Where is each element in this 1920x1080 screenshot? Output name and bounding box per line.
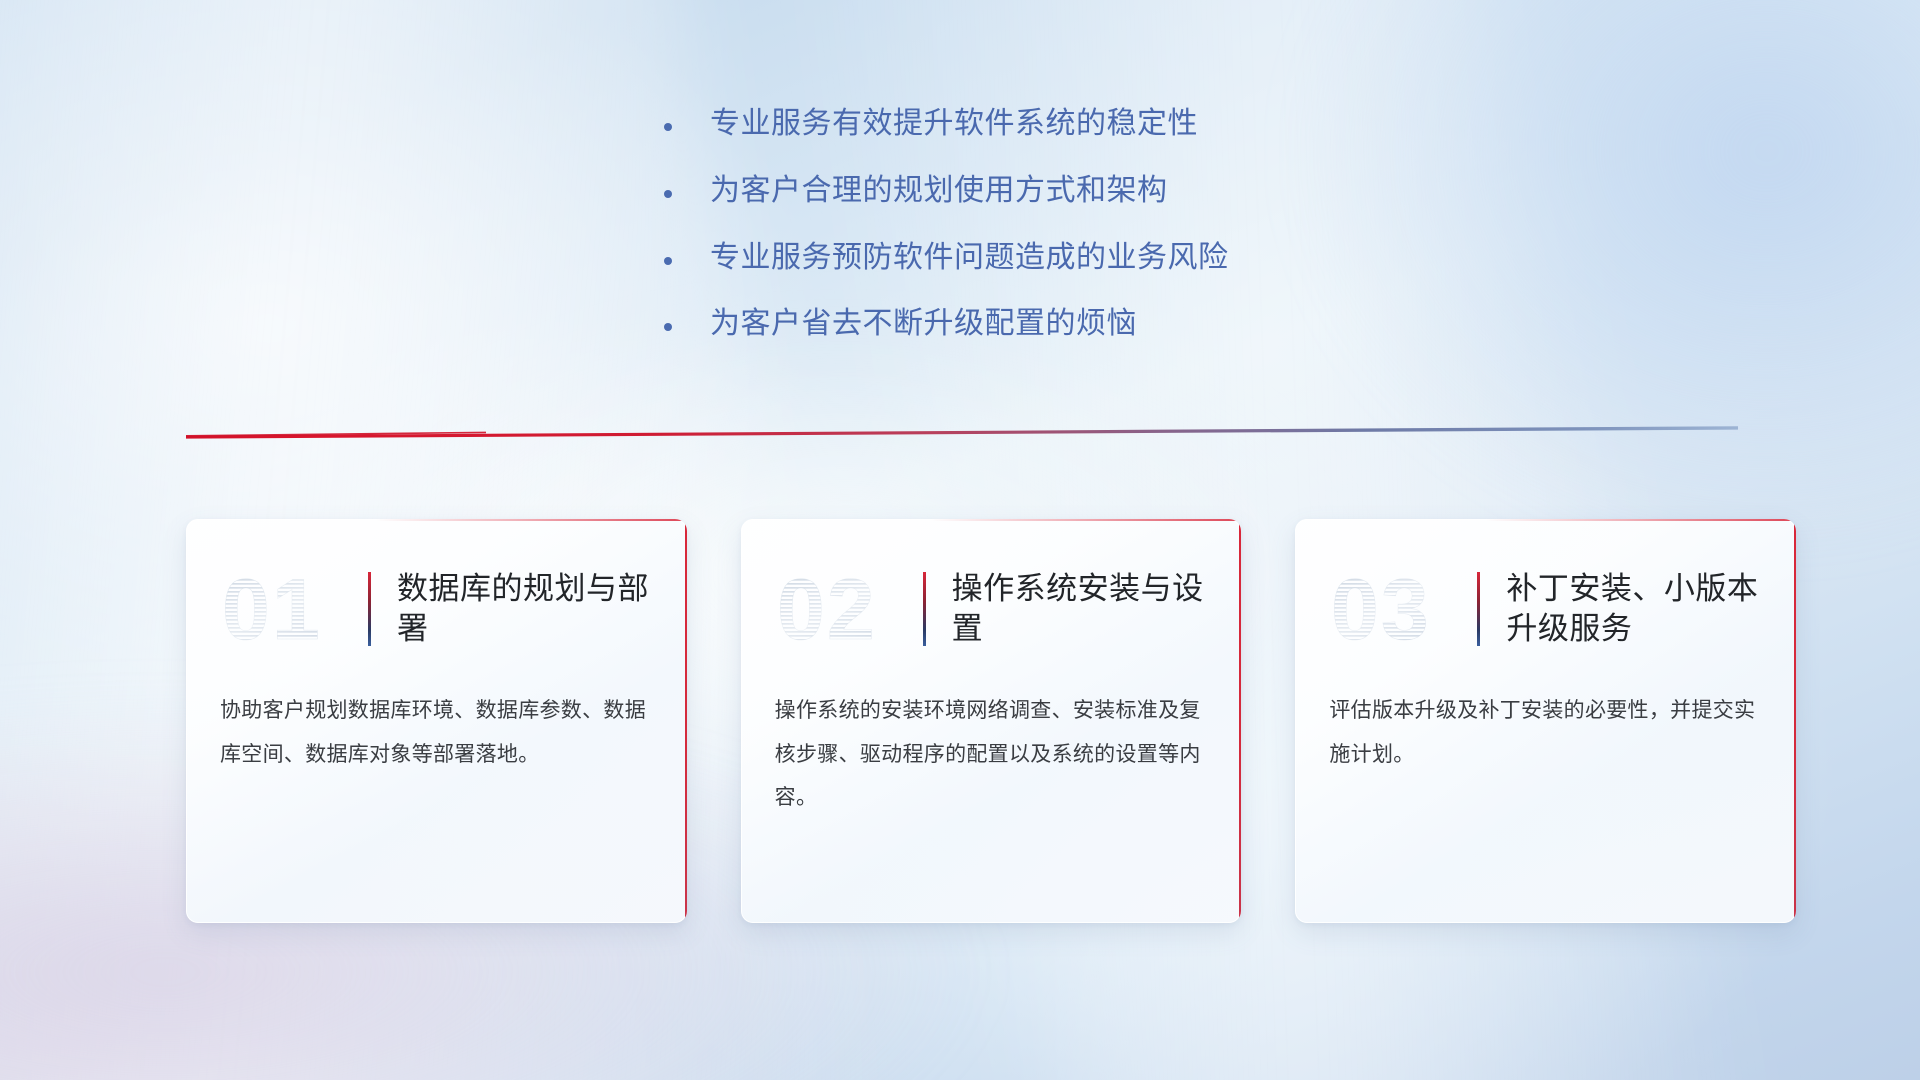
benefits-bullet-list: 专业服务有效提升软件系统的稳定性 为客户合理的规划使用方式和架构 专业服务预防软… [664, 104, 1484, 371]
card-body-text: 操作系统的安装环境网络调查、安装标准及复核步骤、驱动程序的配置以及系统的设置等内… [741, 667, 1242, 820]
service-card-01[interactable]: 01 01 数据库的规划与部署 协助客户规划数据库环境、数据库参数、数据库空间、… [186, 519, 687, 923]
bullet-text: 为客户省去不断升级配置的烦恼 [710, 304, 1137, 345]
card-title-rule [923, 572, 926, 646]
bullet-dot-icon [664, 257, 672, 265]
slide-root: 专业服务有效提升软件系统的稳定性 为客户合理的规划使用方式和架构 专业服务预防软… [0, 0, 1920, 1080]
bullet-dot-icon [664, 323, 672, 331]
card-title: 操作系统安装与设置 [952, 569, 1212, 650]
bullet-dot-icon [664, 123, 672, 131]
section-divider [186, 424, 1738, 444]
bullet-text: 专业服务有效提升软件系统的稳定性 [710, 104, 1198, 145]
card-header: 03 03 补丁安装、小版本升级服务 [1295, 519, 1796, 667]
card-body-text: 协助客户规划数据库环境、数据库参数、数据库空间、数据库对象等部署落地。 [186, 667, 687, 776]
service-card-list: 01 01 数据库的规划与部署 协助客户规划数据库环境、数据库参数、数据库空间、… [186, 519, 1796, 923]
ghost-number-03-icon: 03 03 [1329, 563, 1461, 655]
svg-text:01: 01 [222, 563, 322, 655]
svg-text:02: 02 [777, 563, 877, 655]
bullet-text: 为客户合理的规划使用方式和架构 [710, 171, 1168, 212]
card-title-rule [1477, 572, 1480, 646]
card-header: 01 01 数据库的规划与部署 [186, 519, 687, 667]
bullet-dot-icon [664, 190, 672, 198]
ghost-number-02-icon: 02 02 [775, 563, 907, 655]
list-item: 专业服务预防软件问题造成的业务风险 [664, 238, 1484, 279]
ghost-number-01-icon: 01 01 [220, 563, 352, 655]
card-title-rule [368, 572, 371, 646]
list-item: 专业服务有效提升软件系统的稳定性 [664, 104, 1484, 145]
card-title: 数据库的规划与部署 [397, 569, 657, 650]
card-body-text: 评估版本升级及补丁安装的必要性，并提交实施计划。 [1295, 667, 1796, 776]
service-card-02[interactable]: 02 02 操作系统安装与设置 操作系统的安装环境网络调查、安装标准及复核步骤、… [741, 519, 1242, 923]
list-item: 为客户合理的规划使用方式和架构 [664, 171, 1484, 212]
tapered-rule-divider-icon [186, 424, 1738, 444]
list-item: 为客户省去不断升级配置的烦恼 [664, 304, 1484, 345]
bullet-text: 专业服务预防软件问题造成的业务风险 [710, 238, 1229, 279]
card-header: 02 02 操作系统安装与设置 [741, 519, 1242, 667]
card-title: 补丁安装、小版本升级服务 [1506, 569, 1766, 650]
svg-text:03: 03 [1331, 563, 1431, 655]
service-card-03[interactable]: 03 03 补丁安装、小版本升级服务 评估版本升级及补丁安装的必要性，并提交实施… [1295, 519, 1796, 923]
